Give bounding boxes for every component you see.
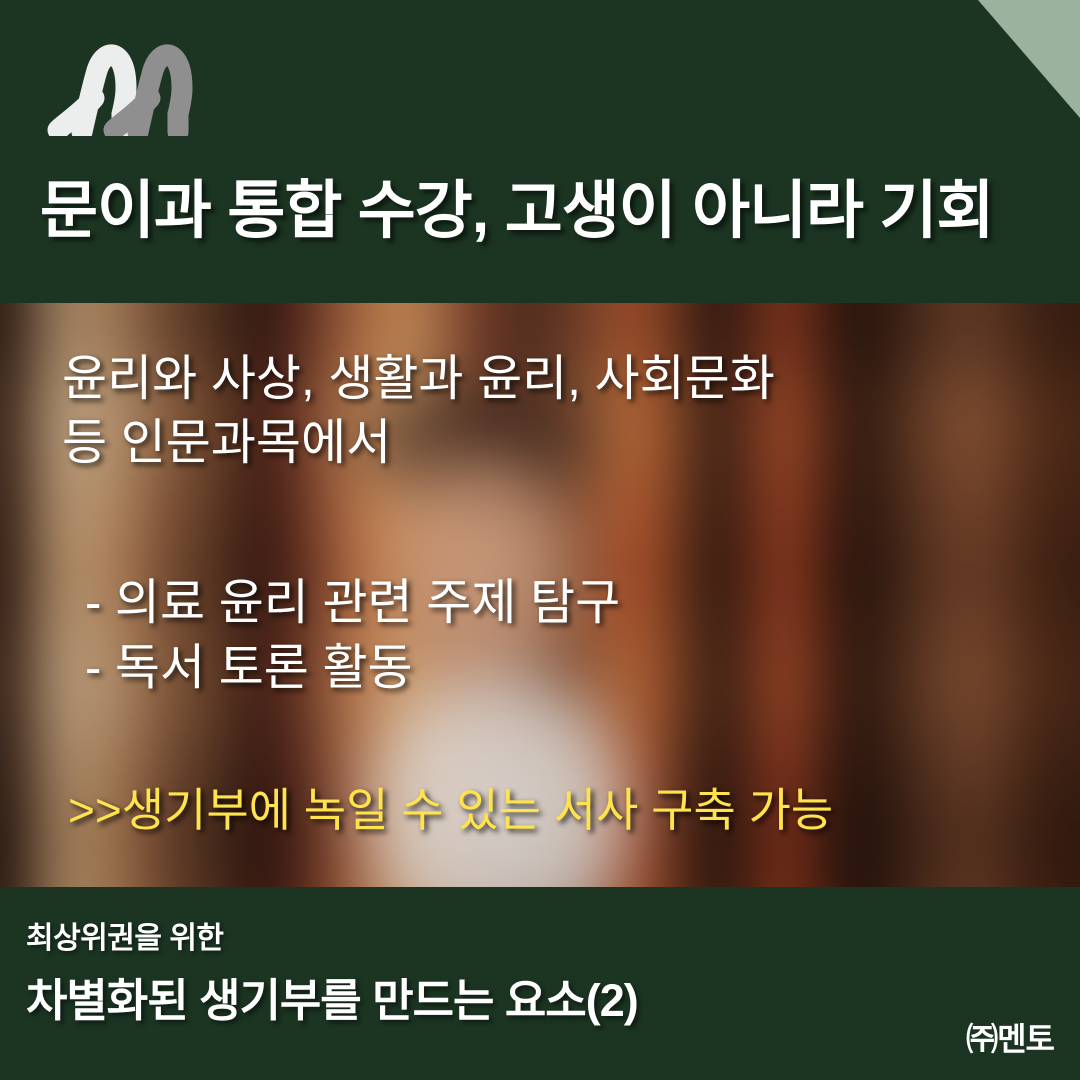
footer-eyebrow: 최상위권을 위한 xyxy=(26,913,224,957)
body-content: 윤리와 사상, 생활과 윤리, 사회문화 등 인문과목에서 - 의료 윤리 관련… xyxy=(0,303,1080,887)
background-photo: 윤리와 사상, 생활과 윤리, 사회문화 등 인문과목에서 - 의료 윤리 관련… xyxy=(0,303,1080,887)
corner-accent-triangle xyxy=(978,0,1080,118)
intro-line-2: 등 인문과목에서 xyxy=(62,412,1042,476)
logo-icon xyxy=(38,36,198,136)
company-brand-mark: ㈜멘토 xyxy=(966,1014,1054,1060)
bullet-list: - 의료 윤리 관련 주제 탐구 - 독서 토론 활동 xyxy=(85,571,1045,700)
footer-title: 차별화된 생기부를 만드는 요소(2) xyxy=(26,964,638,1029)
promo-card: 문이과 통합 수강, 고생이 아니라 기회 윤리와 사상, 생활과 윤리, 사회… xyxy=(0,0,1080,1080)
card-footer: 최상위권을 위한 차별화된 생기부를 만드는 요소(2) ㈜멘토 xyxy=(0,887,1080,1080)
card-header: 문이과 통합 수강, 고생이 아니라 기회 xyxy=(0,0,1080,303)
page-title: 문이과 통합 수강, 고생이 아니라 기회 xyxy=(40,178,1050,244)
mento-mountain-logo xyxy=(38,36,198,136)
intro-line-1: 윤리와 사상, 생활과 윤리, 사회문화 xyxy=(62,348,1042,412)
list-item: - 독서 토론 활동 xyxy=(85,636,1045,701)
list-item: - 의료 윤리 관련 주제 탐구 xyxy=(85,571,1045,636)
intro-paragraph: 윤리와 사상, 생활과 윤리, 사회문화 등 인문과목에서 xyxy=(62,348,1042,475)
highlight-callout: >>생기부에 녹일 수 있는 서사 구축 가능 xyxy=(68,783,1068,838)
